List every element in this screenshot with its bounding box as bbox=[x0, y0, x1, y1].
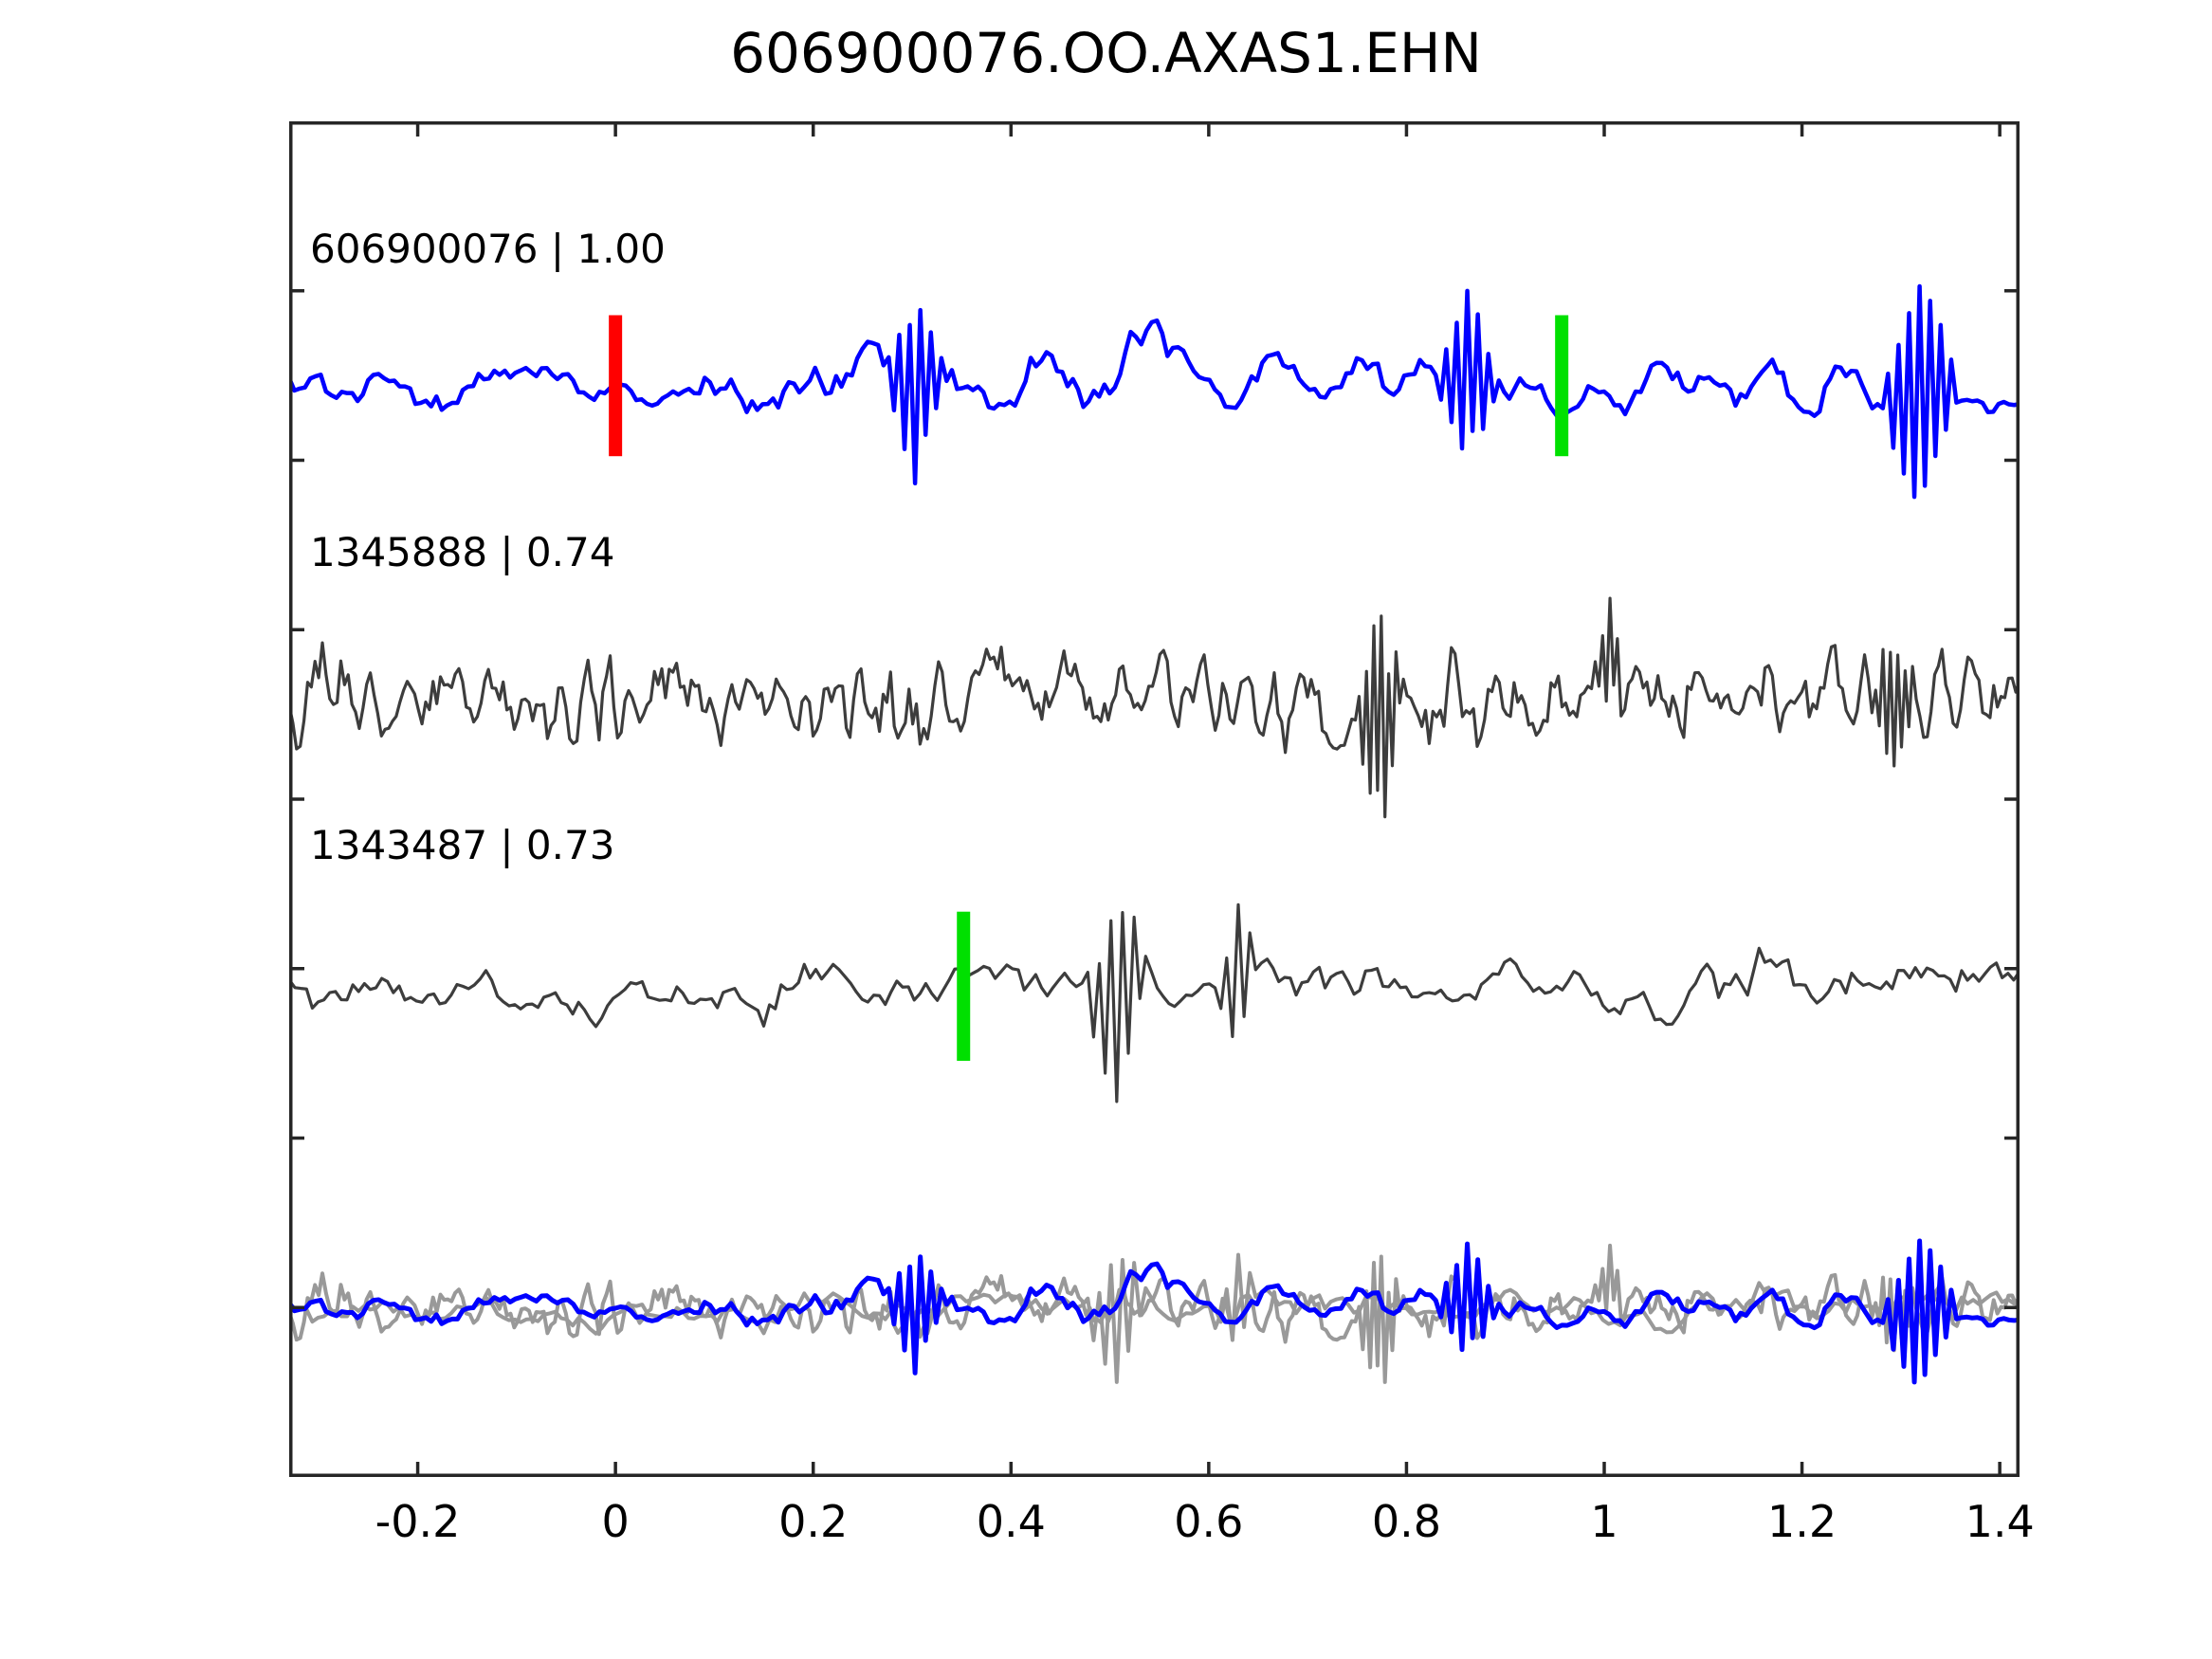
tick-layer bbox=[289, 121, 2020, 1477]
overlay-trace-1343487 bbox=[289, 1255, 2020, 1382]
x-tick-label: 0.8 bbox=[1372, 1496, 1441, 1547]
waveform-trace-606900076 bbox=[289, 286, 2020, 497]
x-tick-label: 0 bbox=[602, 1496, 630, 1547]
axes-canvas bbox=[289, 121, 2020, 1477]
plot-area: 606900076 | 1.00 1345888 | 0.74 1343487 … bbox=[289, 121, 2020, 1477]
p-pick-marker-606900076 bbox=[609, 315, 622, 456]
page-title: 606900076.OO.AXAS1.EHN bbox=[0, 21, 2212, 85]
s-pick-marker-606900076 bbox=[1555, 315, 1568, 456]
waveform-trace-1345888 bbox=[289, 598, 2020, 816]
waveform-trace-1343487 bbox=[289, 904, 2020, 1102]
x-tick-label: 1.4 bbox=[1965, 1496, 2035, 1547]
x-tick-label: -0.2 bbox=[375, 1496, 461, 1547]
x-tick-label: 1 bbox=[1590, 1496, 1618, 1547]
s-pick-marker-1343487 bbox=[957, 912, 970, 1061]
x-tick-label: 0.2 bbox=[778, 1496, 848, 1547]
axes-frame bbox=[291, 123, 2019, 1476]
x-tick-label: 1.2 bbox=[1767, 1496, 1837, 1547]
seismic-waveform-figure: 606900076.OO.AXAS1.EHN 606900076 | 1.00 … bbox=[0, 0, 2212, 1659]
waveform-layer bbox=[289, 286, 2020, 1382]
x-tick-label: 0.6 bbox=[1174, 1496, 1243, 1547]
x-tick-label: 0.4 bbox=[977, 1496, 1046, 1547]
